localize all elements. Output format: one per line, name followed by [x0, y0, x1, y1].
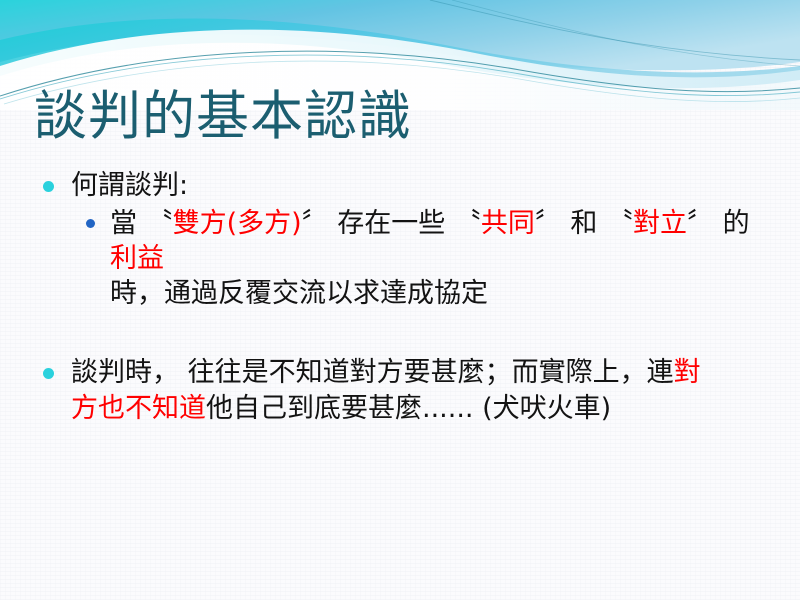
bullet-dot-icon [86, 219, 95, 228]
text-run: 〞 和 〝 [535, 208, 633, 239]
bullet-runs-line1: 談判時， 往往是不知道對方要甚麼；而實際上，連對 [71, 355, 774, 391]
highlighted-text-run: 利益 [110, 243, 164, 274]
highlighted-text-run: 方也不知道 [71, 393, 206, 424]
bullet-sub-runs-line1: 當 〝雙方(多方)〞 存在一些 〝共同〞 和 〝對立〞 的利益 [110, 206, 774, 276]
highlighted-text-run: 共同 [481, 208, 535, 239]
text-run: 談判時， 往往是不知道對方要甚麼；而實際上，連 [71, 357, 674, 388]
bullet-text: 何謂談判: [71, 170, 188, 201]
bullet-dot-icon [43, 181, 54, 192]
text-run: 時，通過反覆交流以求達成協定 [110, 278, 488, 309]
presentation-slide: 談判的基本認識 何謂談判: 當 〝雙方(多方)〞 存在一些 〝共同〞 和 〝對立… [0, 0, 800, 600]
bullet-item-level1: 談判時， 往往是不知道對方要甚麼；而實際上，連對 方也不知道他自己到底要甚麼..… [34, 355, 774, 427]
text-run: 他自己到底要甚麼...... (犬吠火車) [206, 393, 611, 424]
highlighted-text-run: 雙方(多方) [173, 208, 302, 239]
text-run: 〞 存在一些 〝 [302, 208, 481, 239]
bullet-sub-runs-line2: 時，通過反覆交流以求達成協定 [110, 276, 774, 311]
highlighted-text-run: 對 [674, 357, 701, 388]
bullet-item-level2: 當 〝雙方(多方)〞 存在一些 〝共同〞 和 〝對立〞 的利益 時，通過反覆交流… [74, 206, 774, 311]
text-run: 〞 的 [687, 208, 750, 239]
paragraph-spacer [34, 311, 774, 355]
bullet-item-level1: 何謂談判: [34, 168, 774, 204]
slide-title: 談判的基本認識 [34, 88, 412, 145]
bullet-runs-line2: 方也不知道他自己到底要甚麼...... (犬吠火車) [71, 391, 774, 427]
text-run: 當 〝 [110, 208, 173, 239]
slide-body: 何謂談判: 當 〝雙方(多方)〞 存在一些 〝共同〞 和 〝對立〞 的利益 時，… [34, 168, 774, 429]
highlighted-text-run: 對立 [633, 208, 687, 239]
bullet-dot-icon [43, 368, 54, 379]
